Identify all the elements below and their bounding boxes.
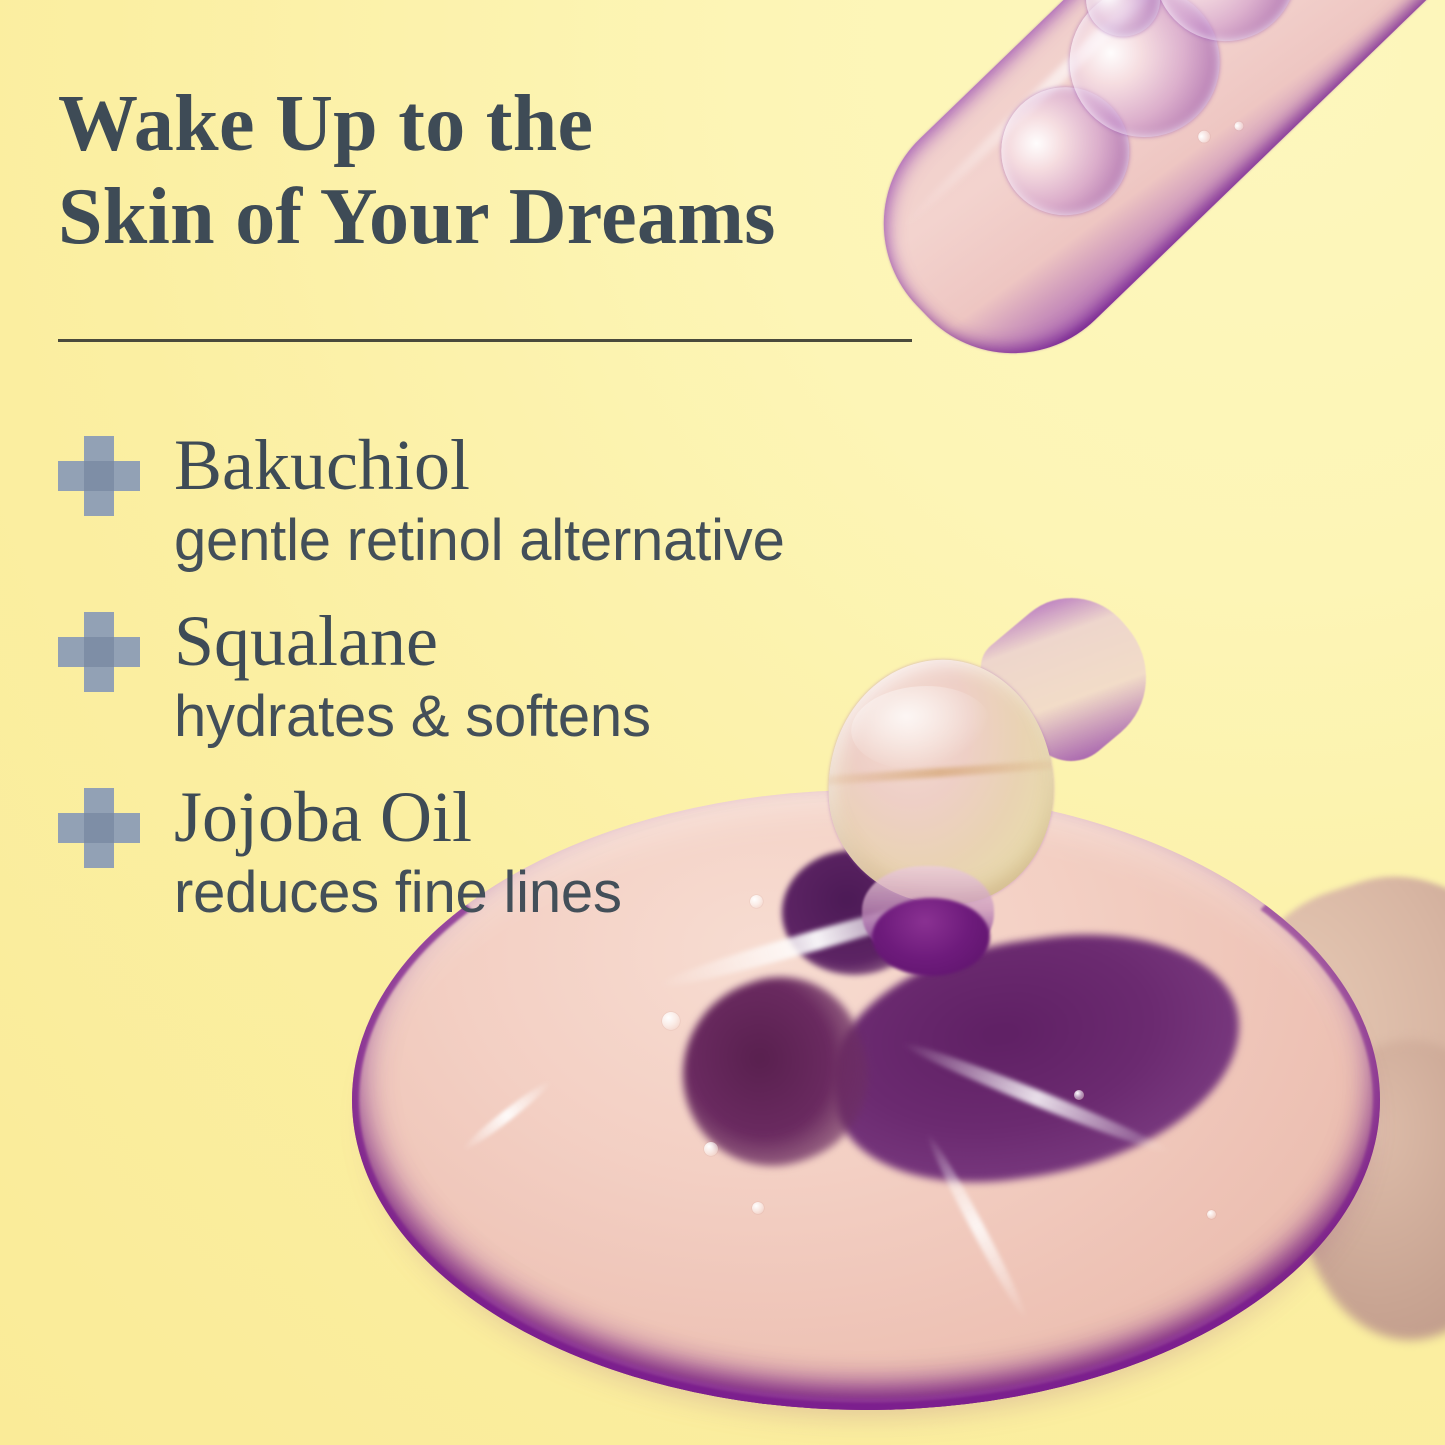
plus-icon bbox=[58, 612, 140, 692]
ingredient-benefit: hydrates & softens bbox=[58, 682, 1018, 752]
plus-icon bbox=[58, 436, 140, 516]
text-overlay-layer: Wake Up to the Skin of Your Dreams Bakuc… bbox=[0, 0, 1445, 1445]
page-title-line-1: Wake Up to the bbox=[58, 78, 958, 171]
ingredient-name: Bakuchiol bbox=[58, 424, 1018, 506]
ingredient-name: Jojoba Oil bbox=[58, 776, 1018, 858]
ingredient-benefit: reduces fine lines bbox=[58, 858, 1018, 928]
list-item: Bakuchiol gentle retinol alternative bbox=[58, 424, 1018, 576]
plus-icon bbox=[58, 788, 140, 868]
ingredient-name: Squalane bbox=[58, 600, 1018, 682]
ingredient-list: Bakuchiol gentle retinol alternative Squ… bbox=[58, 424, 1018, 928]
ingredient-benefit: gentle retinol alternative bbox=[58, 506, 1018, 576]
list-item: Jojoba Oil reduces fine lines bbox=[58, 776, 1018, 928]
promo-graphic-canvas: Wake Up to the Skin of Your Dreams Bakuc… bbox=[0, 0, 1445, 1445]
title-divider bbox=[58, 339, 912, 342]
page-title-line-2: Skin of Your Dreams bbox=[58, 171, 958, 264]
list-item: Squalane hydrates & softens bbox=[58, 600, 1018, 752]
page-title: Wake Up to the Skin of Your Dreams bbox=[58, 78, 958, 264]
